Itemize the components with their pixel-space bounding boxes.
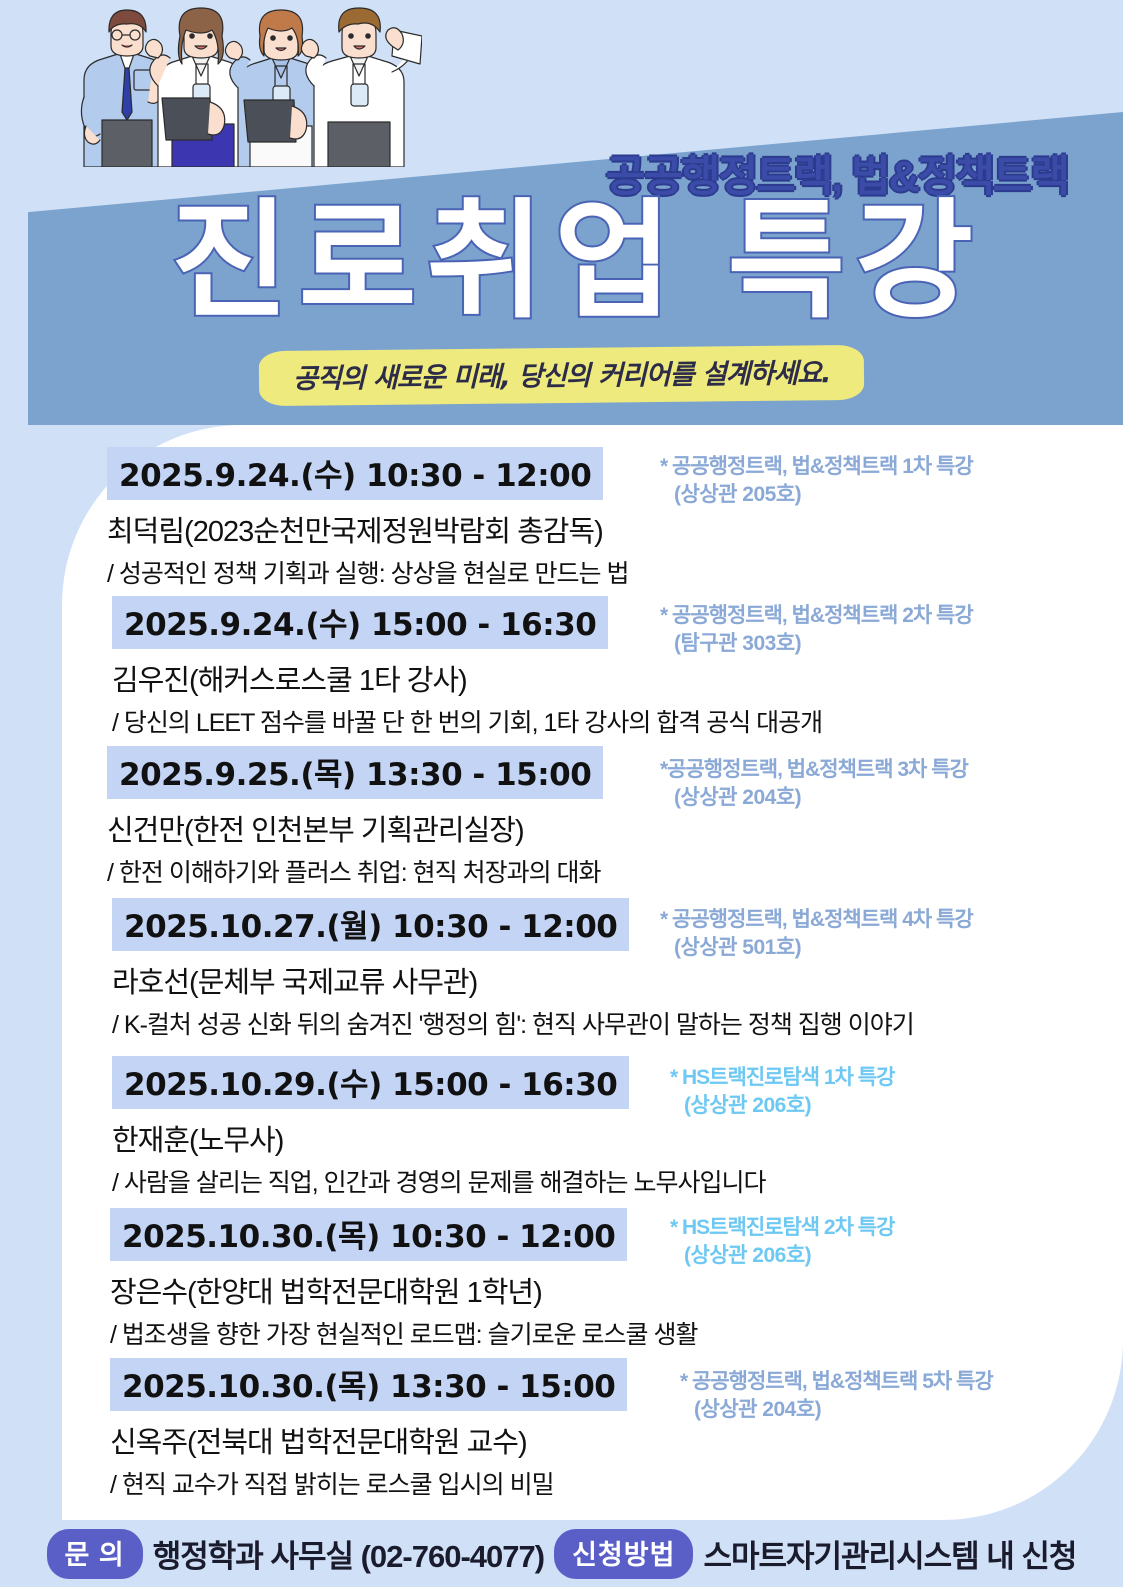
session-track-info: *공공행정트랙, 법&정책트랙 3차 특강 (상상관 204호) bbox=[660, 756, 1090, 811]
session-room-label: (상상관 206호) bbox=[670, 1242, 1100, 1270]
session-details: 2025.9.24.(수) 10:30 - 12:00 최덕림(2023순천만국… bbox=[107, 447, 747, 590]
session-row: 2025.10.29.(수) 15:00 - 16:30 한재훈(노무사) / … bbox=[62, 1052, 1123, 1202]
session-track-label: * 공공행정트랙, 법&정책트랙 4차 특강 bbox=[660, 906, 1090, 934]
session-datetime: 2025.10.30.(목) 13:30 - 15:00 bbox=[110, 1358, 627, 1411]
session-details: 2025.10.30.(목) 10:30 - 12:00 장은수(한양대 법학전… bbox=[110, 1208, 750, 1351]
session-datetime: 2025.10.30.(목) 10:30 - 12:00 bbox=[110, 1208, 627, 1261]
session-details: 2025.9.24.(수) 15:00 - 16:30 김우진(해커스로스쿨 1… bbox=[112, 596, 752, 739]
session-details: 2025.10.29.(수) 15:00 - 16:30 한재훈(노무사) / … bbox=[112, 1056, 752, 1199]
session-row: 2025.9.24.(수) 10:30 - 12:00 최덕림(2023순천만국… bbox=[62, 435, 1123, 590]
tagline-highlight: 공직의 새로운 미래, 당신의 커리어를 설계하세요. bbox=[259, 345, 865, 406]
session-speaker: 라호선(문체부 국제교류 사무관) bbox=[112, 959, 1072, 1001]
session-list: 2025.9.24.(수) 10:30 - 12:00 최덕림(2023순천만국… bbox=[62, 425, 1123, 1520]
session-topic: / K-컬처 성공 신화 뒤의 숨겨진 '행정의 힘': 현직 사무관이 말하는… bbox=[112, 1005, 1072, 1041]
session-track-info: * HS트랙진로탐색 1차 특강 (상상관 206호) bbox=[670, 1064, 1100, 1119]
session-details: 2025.9.25.(목) 13:30 - 15:00 신건만(한전 인천본부 … bbox=[107, 746, 747, 889]
session-row: 2025.10.27.(월) 10:30 - 12:00 라호선(문체부 국제교… bbox=[62, 892, 1123, 1052]
session-track-info: * HS트랙진로탐색 2차 특강 (상상관 206호) bbox=[670, 1214, 1100, 1269]
session-speaker: 신옥주(전북대 법학전문대학원 교수) bbox=[110, 1419, 750, 1461]
session-track-info: * 공공행정트랙, 법&정책트랙 5차 특강 (상상관 204호) bbox=[680, 1368, 1110, 1423]
session-track-info: * 공공행정트랙, 법&정책트랙 2차 특강 (탐구관 303호) bbox=[660, 602, 1090, 657]
session-room-label: (탐구관 303호) bbox=[660, 630, 1090, 658]
apply-method-value: 스마트자기관리시스템 내 신청 bbox=[703, 1531, 1076, 1576]
session-speaker: 김우진(해커스로스쿨 1타 강사) bbox=[112, 657, 752, 699]
session-topic: / 사람을 살리는 직업, 인간과 경영의 문제를 해결하는 노무사입니다 bbox=[112, 1163, 752, 1199]
session-room-label: (상상관 206호) bbox=[670, 1092, 1100, 1120]
session-topic: / 법조생을 향한 가장 현실적인 로드맵: 슬기로운 로스쿨 생활 bbox=[110, 1315, 750, 1351]
session-track-label: * HS트랙진로탐색 2차 특강 bbox=[670, 1214, 1100, 1242]
session-track-label: *공공행정트랙, 법&정책트랙 3차 특강 bbox=[660, 756, 1090, 784]
tagline-text: 공직의 새로운 미래, 당신의 커리어를 설계하세요. bbox=[293, 358, 831, 395]
session-topic: / 한전 이해하기와 플러스 취업: 현직 처장과의 대화 bbox=[107, 853, 747, 889]
session-datetime: 2025.10.29.(수) 15:00 - 16:30 bbox=[112, 1056, 629, 1109]
session-track-label: * 공공행정트랙, 법&정책트랙 5차 특강 bbox=[680, 1368, 1110, 1396]
content-panel: 2025.9.24.(수) 10:30 - 12:00 최덕림(2023순천만국… bbox=[62, 425, 1123, 1520]
session-speaker: 최덕림(2023순천만국제정원박람회 총감독) bbox=[107, 508, 747, 550]
session-topic: / 성공적인 정책 기획과 실행: 상상을 현실로 만드는 법 bbox=[107, 554, 747, 590]
session-track-label: * 공공행정트랙, 법&정책트랙 2차 특강 bbox=[660, 602, 1090, 630]
session-datetime: 2025.9.24.(수) 10:30 - 12:00 bbox=[107, 447, 603, 500]
session-speaker: 신건만(한전 인천본부 기획관리실장) bbox=[107, 807, 747, 849]
session-row: 2025.9.24.(수) 15:00 - 16:30 김우진(해커스로스쿨 1… bbox=[62, 590, 1123, 742]
session-speaker: 장은수(한양대 법학전문대학원 1학년) bbox=[110, 1269, 750, 1311]
inquiry-badge: 문 의 bbox=[47, 1529, 143, 1579]
session-datetime: 2025.9.25.(목) 13:30 - 15:00 bbox=[107, 746, 603, 799]
session-topic: / 현직 교수가 직접 밝히는 로스쿨 입시의 비밀 bbox=[110, 1465, 750, 1501]
session-row: 2025.9.25.(목) 13:30 - 15:00 신건만(한전 인천본부 … bbox=[62, 742, 1123, 892]
session-track-label: * HS트랙진로탐색 1차 특강 bbox=[670, 1064, 1100, 1092]
office-workers-illustration bbox=[62, 2, 422, 167]
apply-method-badge: 신청방법 bbox=[554, 1529, 693, 1579]
poster-header: 공공행정트랙, 법&정책트랙 진로취업 특강 공직의 새로운 미래, 당신의 커… bbox=[0, 0, 1123, 425]
poster-title: 진로취업 특강 bbox=[82, 198, 1072, 326]
session-row: 2025.10.30.(목) 13:30 - 15:00 신옥주(전북대 법학전… bbox=[62, 1350, 1123, 1500]
session-details: 2025.10.30.(목) 13:30 - 15:00 신옥주(전북대 법학전… bbox=[110, 1358, 750, 1501]
session-track-info: * 공공행정트랙, 법&정책트랙 1차 특강 (상상관 205호) bbox=[660, 453, 1090, 508]
session-row: 2025.10.30.(목) 10:30 - 12:00 장은수(한양대 법학전… bbox=[62, 1202, 1123, 1350]
session-track-label: * 공공행정트랙, 법&정책트랙 1차 특강 bbox=[660, 453, 1090, 481]
session-track-info: * 공공행정트랙, 법&정책트랙 4차 특강 (상상관 501호) bbox=[660, 906, 1090, 961]
tagline-container: 공직의 새로운 미래, 당신의 커리어를 설계하세요. bbox=[0, 348, 1123, 403]
session-datetime: 2025.10.27.(월) 10:30 - 12:00 bbox=[112, 898, 629, 951]
session-datetime: 2025.9.24.(수) 15:00 - 16:30 bbox=[112, 596, 608, 649]
session-room-label: (상상관 204호) bbox=[680, 1396, 1110, 1424]
poster-footer: 문 의 행정학과 사무실 (02-760-4077) 신청방법 스마트자기관리시… bbox=[0, 1520, 1123, 1587]
session-speaker: 한재훈(노무사) bbox=[112, 1117, 752, 1159]
session-topic: / 당신의 LEET 점수를 바꿀 단 한 번의 기회, 1타 강사의 합격 공… bbox=[112, 703, 752, 739]
session-room-label: (상상관 501호) bbox=[660, 934, 1090, 962]
session-room-label: (상상관 204호) bbox=[660, 784, 1090, 812]
inquiry-value: 행정학과 사무실 (02-760-4077) bbox=[153, 1531, 544, 1576]
session-room-label: (상상관 205호) bbox=[660, 481, 1090, 509]
